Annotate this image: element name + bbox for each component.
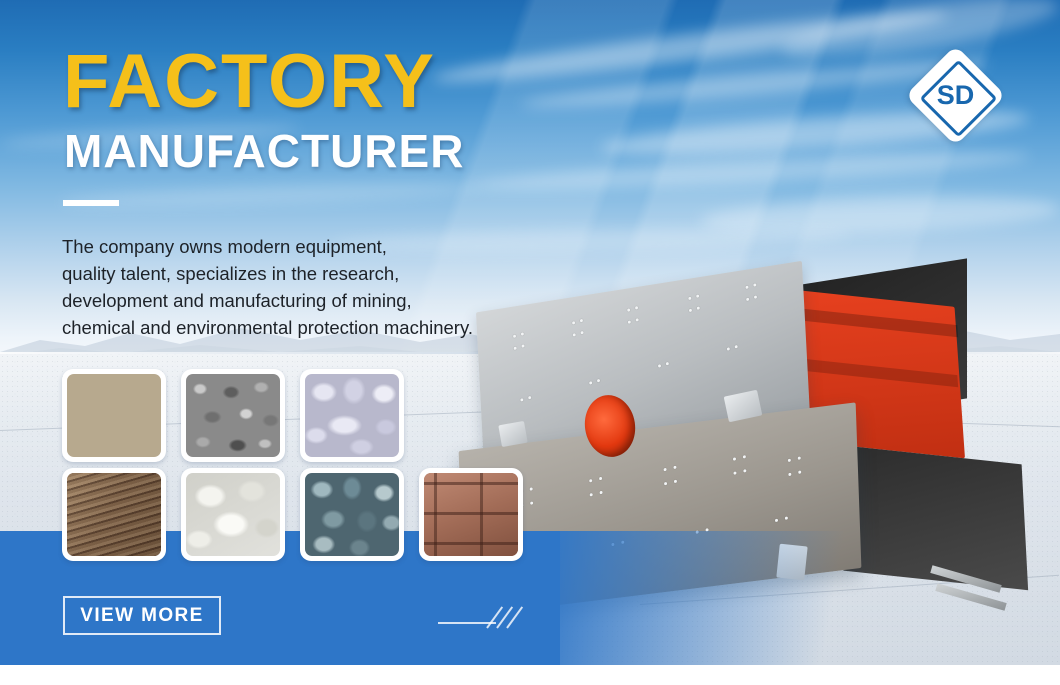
arrow-slash <box>486 606 503 628</box>
thumbnail-brown-shale-strata[interactable] <box>62 468 166 561</box>
thumbnail-image <box>67 473 161 556</box>
thumbnail-pale-smooth-stones[interactable] <box>300 369 404 462</box>
thumbnail-red-sandstone-blocks[interactable] <box>419 468 523 561</box>
thumbnail-image <box>305 374 399 457</box>
thumbnail-mixed-river-pebbles[interactable] <box>62 369 166 462</box>
thumbnail-image <box>186 374 280 457</box>
sd-logo[interactable]: SD <box>908 48 1003 143</box>
thumbnail-image <box>67 374 161 457</box>
thumbnail-grey-crushed-gravel[interactable] <box>181 369 285 462</box>
view-more-button[interactable]: VIEW MORE <box>63 596 221 635</box>
thumbnail-blue-river-cobbles[interactable] <box>300 468 404 561</box>
logo-text: SD <box>908 48 1003 143</box>
thumbnail-image <box>186 473 280 556</box>
page-title: FACTORY <box>63 44 436 120</box>
description-line-2: quality talent, specializes in the resea… <box>62 260 532 287</box>
machine-mount-bracket <box>498 421 527 447</box>
title-accent-bar <box>63 200 119 206</box>
factory-manufacturer-banner: FACTORY MANUFACTURER The company owns mo… <box>0 0 1060 685</box>
description-line-1: The company owns modern equipment, <box>62 233 532 260</box>
description-line-4: chemical and environmental protection ma… <box>62 314 532 341</box>
arrow-flourish-icon <box>438 600 528 630</box>
description-line-3: development and manufacturing of mining, <box>62 287 532 314</box>
thumbnail-white-limestone-chunks[interactable] <box>181 468 285 561</box>
white-footer-strip <box>0 665 1060 685</box>
description-text: The company owns modern equipment, quali… <box>62 233 532 341</box>
thumbnail-image <box>305 473 399 556</box>
page-subtitle: MANUFACTURER <box>64 128 464 174</box>
thumbnail-image <box>424 473 518 556</box>
